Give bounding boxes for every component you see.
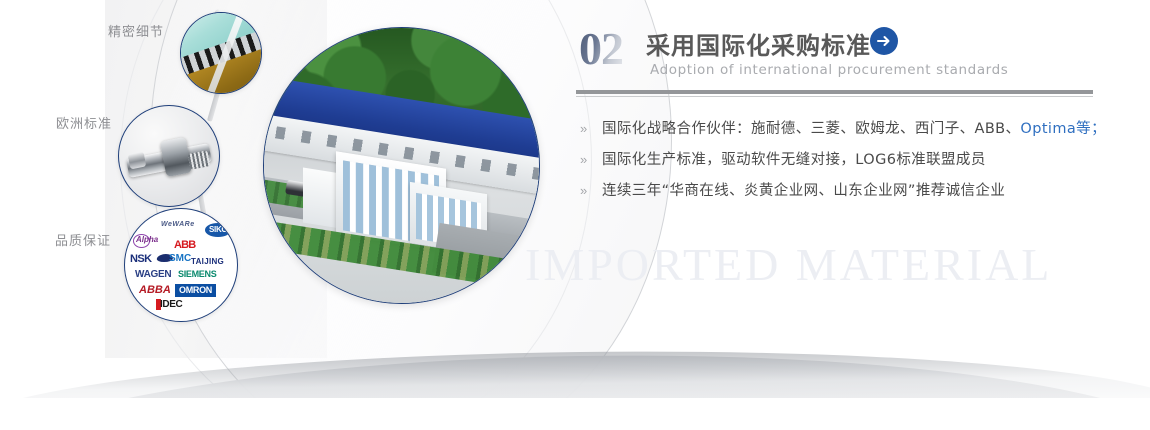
content-column: 02 采用国际化采购标准 Adoption of international p… [576,0,1096,430]
page-subtitle: Adoption of international procurement st… [650,62,1008,78]
ball-screw-photo [118,105,220,207]
feature-label-quality-assurance: 品质保证 [55,230,111,249]
screw-step-shape [128,152,147,170]
logo-cluster: WeWARe SIKO Alpha ABB NSK SMC TAIJING WA… [125,209,237,321]
abb-logo: ABB [174,240,195,251]
precision-machining-photo [180,12,262,94]
page-title: 采用国际化采购标准 [646,26,871,61]
nsk-logo: NSK [130,254,151,265]
list-item: » 国际化生产标准，驱动软件无缝对接，LOG6标准联盟成员 [576,149,1096,180]
arrow-right-icon[interactable] [870,27,898,55]
screw-thread-shape [188,150,211,170]
list-item-text-plain: 国际化生产标准，驱动软件无缝对接，LOG6标准联盟成员 [602,152,986,168]
bottom-mask [0,398,1150,430]
list-item-text-highlight: Optima等； [1020,121,1106,137]
idec-logo: IDEC [160,300,182,310]
list-item-text-plain: 国际化战略合作伙伴：施耐德、三菱、欧姆龙、西门子、ABB、 [602,121,1020,137]
alpha-logo: Alpha [136,236,158,244]
list-item-text: 国际化战略合作伙伴：施耐德、三菱、欧姆龙、西门子、ABB、Optima等； [602,118,1106,140]
omron-logo: OMRON [175,284,216,297]
list-item-text-plain: 连续三年“华商在线、炎黄企业网、山东企业网”推荐诚信企业 [602,183,1005,199]
bullet-marker: » [576,149,602,171]
promo-banner: 精密细节 欧洲标准 品质保证 WeWARe SIKO Alpha ABB NSK… [0,0,1150,430]
smc-logo: SMC [169,254,191,264]
divider-thin [576,96,1093,97]
divider-thick [576,90,1093,94]
list-item-text: 连续三年“华商在线、炎黄企业网、山东企业网”推荐诚信企业 [602,180,1005,202]
factory-aerial-photo [263,27,540,304]
siko-logo: SIKO [205,223,231,237]
feature-list: » 国际化战略合作伙伴：施耐德、三菱、欧姆龙、西门子、ABB、Optima等； … [576,118,1096,211]
bullet-marker: » [576,180,602,202]
siemens-logo: SIEMENS [178,270,216,279]
brand-logos-collage: WeWARe SIKO Alpha ABB NSK SMC TAIJING WA… [124,208,238,322]
section-number: 02 [579,22,623,75]
list-item-text: 国际化生产标准，驱动软件无缝对接，LOG6标准联盟成员 [602,149,986,171]
weware-logo: WeWARe [161,221,195,228]
abba-logo: ABBA [139,285,171,296]
wagen-logo: WAGEN [135,270,171,280]
list-item: » 国际化战略合作伙伴：施耐德、三菱、欧姆龙、西门子、ABB、Optima等； [576,118,1096,149]
feature-label-european-standard: 欧洲标准 [56,113,112,132]
taijing-logo: TAIJING [191,258,224,266]
list-item: » 连续三年“华商在线、炎黄企业网、山东企业网”推荐诚信企业 [576,180,1096,211]
feature-label-precision: 精密细节 [108,21,164,40]
bullet-marker: » [576,118,602,140]
watermark-text: IMPORTED MATERIAL [525,238,1052,291]
